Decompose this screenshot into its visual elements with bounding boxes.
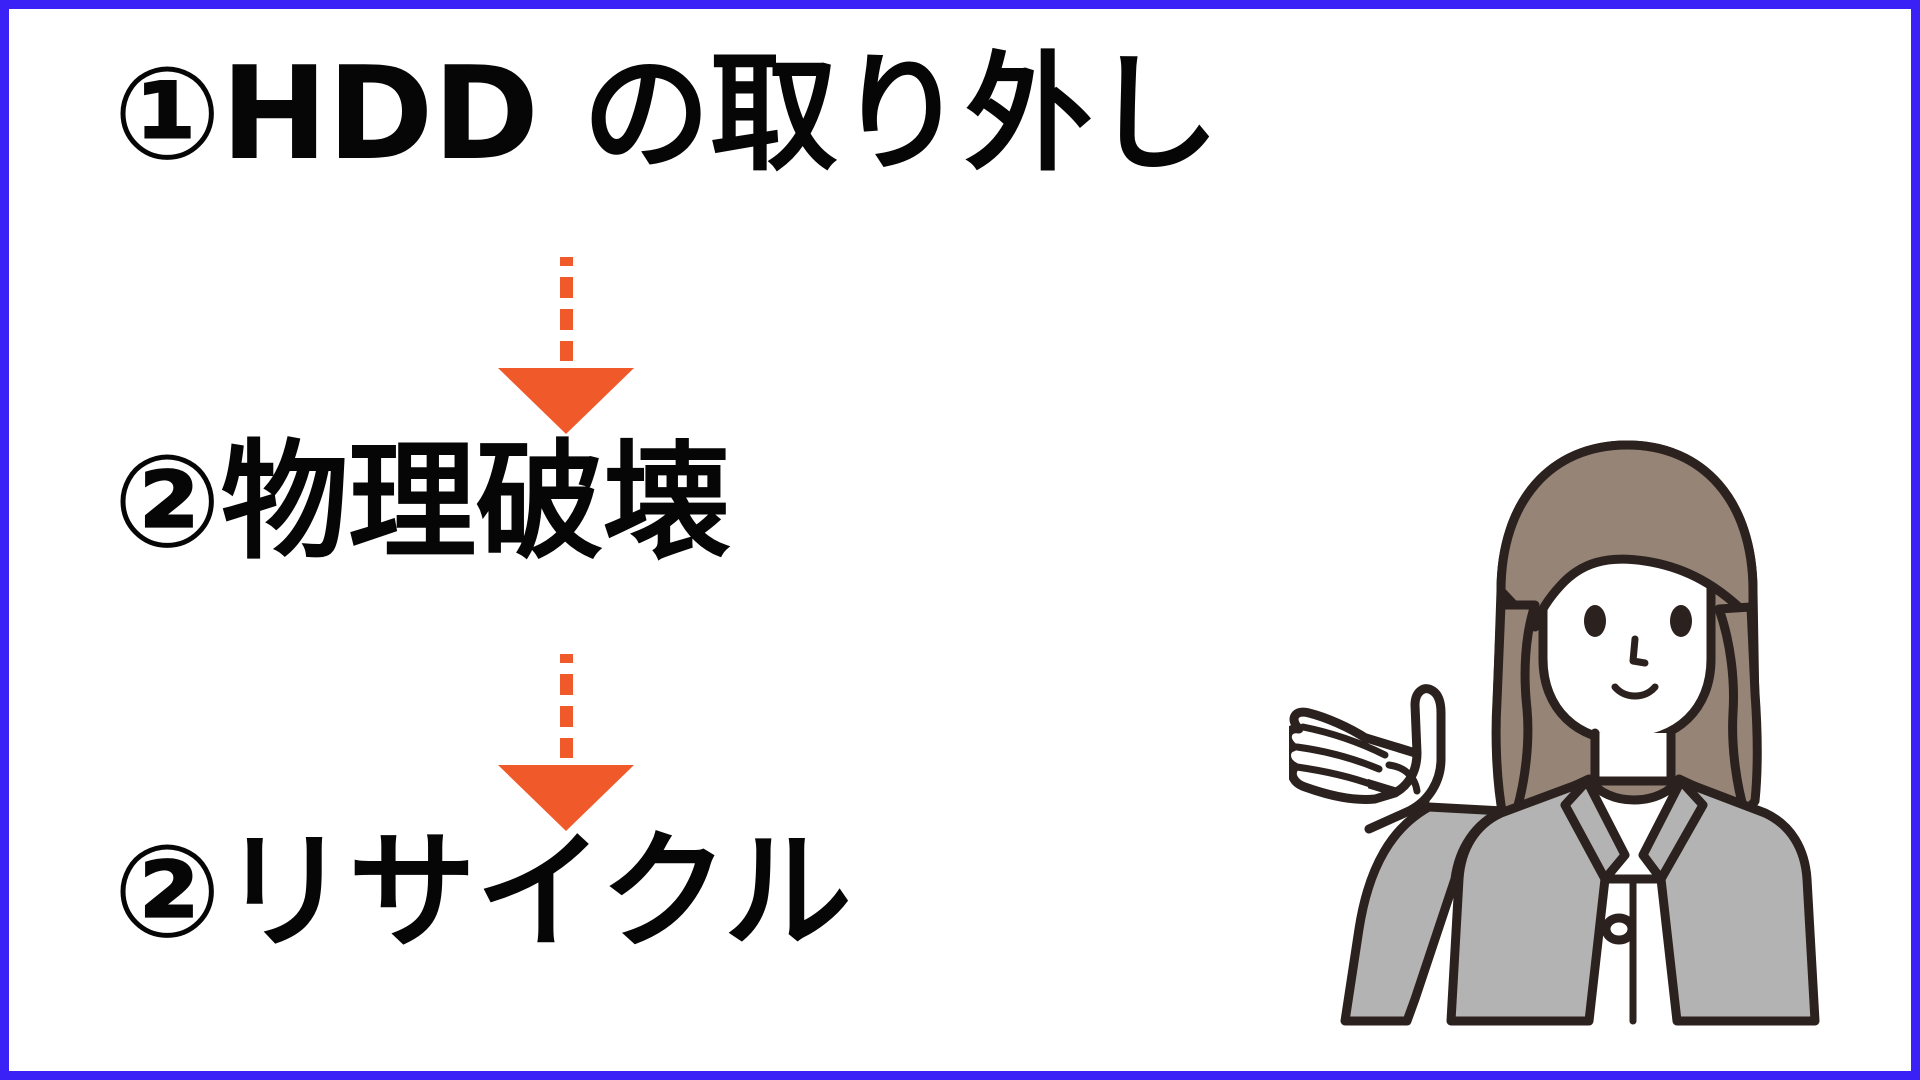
arrow-dash-segment [560,706,573,727]
open-hand [1289,689,1441,829]
arrow-dash-segment [560,257,573,266]
woman-presenting-illustration [1289,409,1849,1029]
arrow-dashed-shaft [560,654,573,758]
arrow-dash-segment [560,277,573,298]
eye-right [1670,605,1692,637]
step-item-3: ②リサイクル [113,829,851,957]
arrow-dash-segment [560,674,573,695]
arrow-head-down-icon [498,368,634,434]
step-item-2: ②物理破壊 [113,439,730,567]
arrow-dash-segment [560,654,573,663]
arrow-dashed-shaft [560,257,573,361]
arrow-dash-segment [560,738,573,758]
neck [1595,733,1671,781]
jacket-button [1606,918,1632,940]
arrow-step2-to-step3 [506,654,626,831]
slide-canvas: ①HDD の取り外し ②物理破壊 ②リサイクル [0,0,1920,1080]
step-3-text: ②リサイクル [113,829,851,957]
step-item-1: ①HDD の取り外し [113,51,1219,179]
step-2-text: ②物理破壊 [113,439,730,567]
arrow-dash-segment [560,341,573,361]
step-1-text: ①HDD の取り外し [113,51,1219,179]
arrow-dash-segment [560,309,573,330]
arrow-step1-to-step2 [506,257,626,434]
eye-left [1584,605,1606,637]
woman-presenting-svg [1289,409,1849,1029]
